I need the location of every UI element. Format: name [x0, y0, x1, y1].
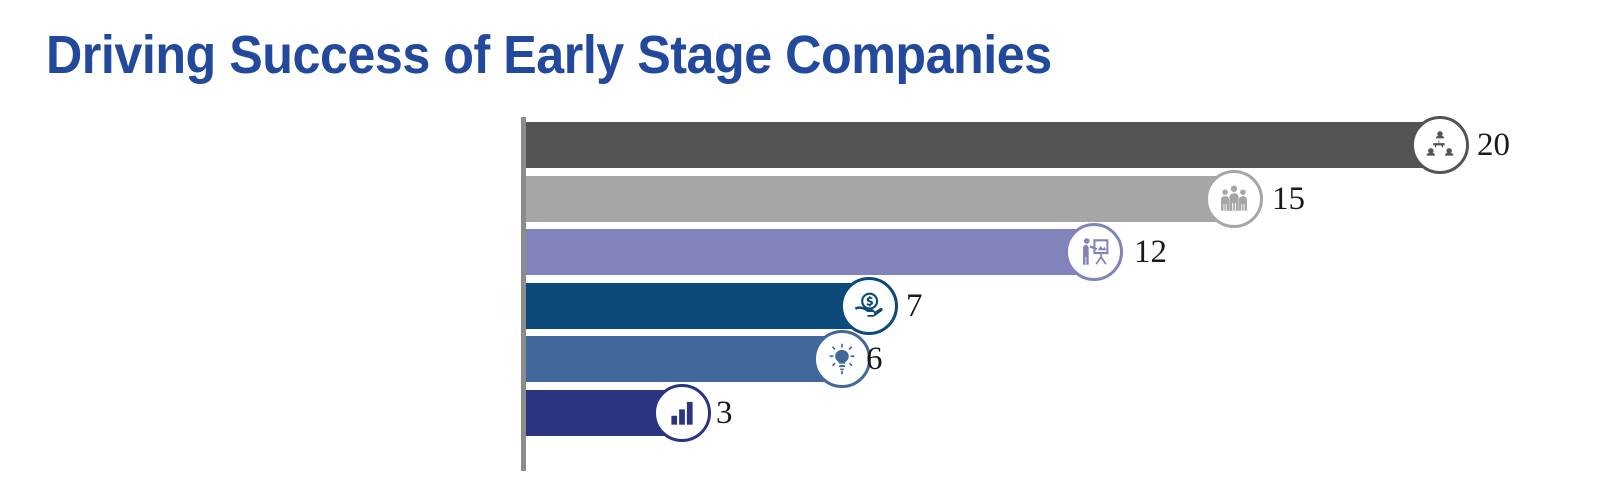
bar	[526, 122, 1455, 168]
lightbulb-icon	[813, 330, 871, 388]
bar	[526, 283, 865, 329]
bar-value-label: 12	[1134, 229, 1167, 275]
bar	[526, 176, 1230, 222]
bar	[526, 229, 1090, 275]
plot-area: Networks & Contacts20Strong Management T…	[0, 0, 1600, 481]
hand-coin-icon	[840, 277, 898, 335]
mentor-whiteboard-icon	[1065, 223, 1123, 281]
bar-value-label: 3	[716, 390, 733, 436]
bar-value-label: 20	[1477, 122, 1510, 168]
org-network-icon	[1411, 116, 1469, 174]
bar-chart-growth-icon	[653, 384, 711, 442]
bar-value-label: 7	[906, 283, 923, 329]
bar-value-label: 6	[866, 336, 883, 382]
team-group-icon	[1205, 170, 1263, 228]
bar-value-label: 15	[1272, 176, 1305, 222]
bar	[526, 336, 838, 382]
chart-container: Driving Success of Early Stage Companies…	[0, 0, 1600, 481]
